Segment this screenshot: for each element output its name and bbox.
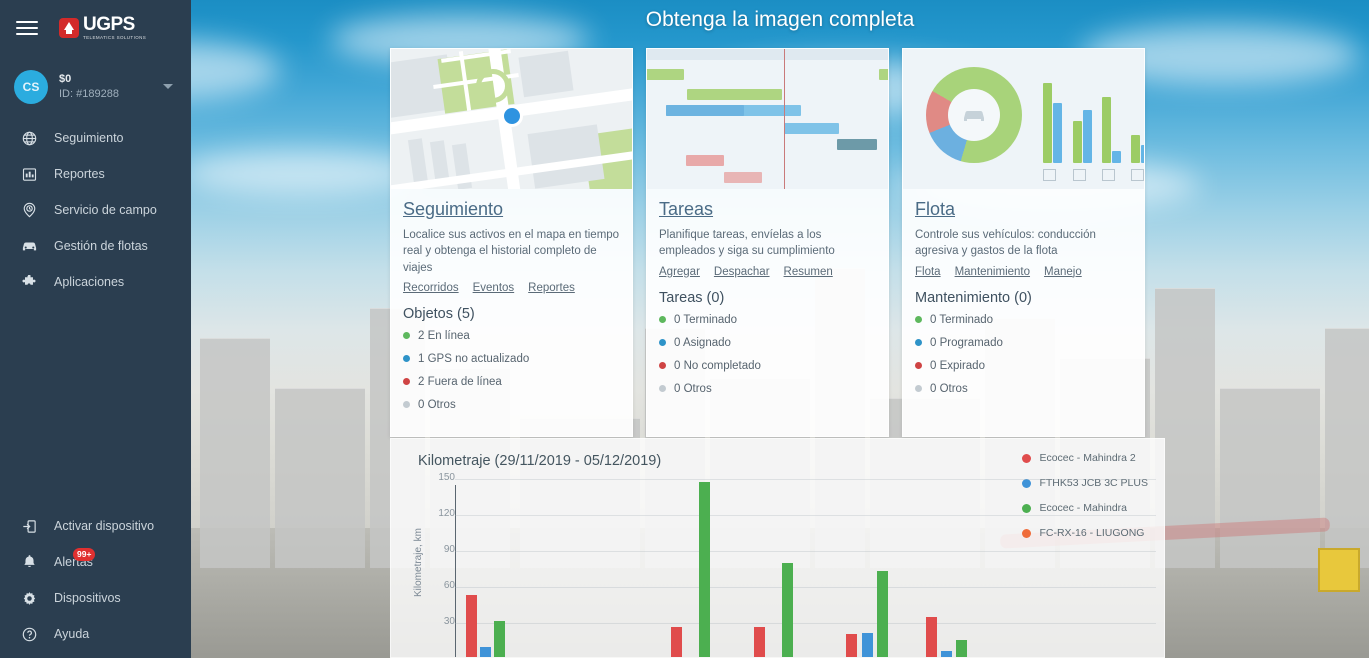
app-logo[interactable]: UGPS TELEMATICS SOLUTIONS — [59, 15, 146, 41]
card-links: Recorridos Eventos Reportes — [403, 282, 620, 294]
donut-chart-icon — [926, 67, 1022, 163]
card-stats: 0 Terminado 0 Asignado 0 No completado 0… — [659, 314, 876, 395]
y-tick-label: 30 — [411, 616, 455, 627]
card-link-3[interactable]: Manejo — [1044, 266, 1082, 278]
avatar: CS — [14, 70, 48, 104]
card-stat-row: 0 Otros — [659, 383, 876, 395]
card-flota[interactable]: Flota Controle sus vehículos: conducción… — [902, 48, 1145, 437]
sidebar-item-aplicaciones[interactable]: Aplicaciones — [0, 264, 191, 300]
hamburger-menu-icon[interactable] — [16, 17, 38, 39]
sidebar-item-dispositivos[interactable]: Dispositivos — [0, 580, 191, 616]
card-title[interactable]: Flota — [915, 199, 955, 220]
sidebar-item-gesti-n-de-flotas[interactable]: Gestión de flotas — [0, 228, 191, 264]
card-link-1[interactable]: Flota — [915, 266, 941, 278]
status-dot — [915, 385, 922, 392]
y-tick-label: 90 — [411, 544, 455, 555]
card-stat-label: 0 No completado — [674, 360, 761, 372]
chart-bar[interactable] — [494, 621, 505, 657]
chart-bar[interactable] — [782, 563, 793, 657]
card-stat-label: 2 En línea — [418, 330, 470, 342]
sidebar-nav-bottom: Activar dispositivo Alertas 99+ Disposit… — [0, 508, 191, 652]
sidebar-item-servicio-de-campo[interactable]: Servicio de campo — [0, 192, 191, 228]
card-stat-row: 0 No completado — [659, 360, 876, 372]
chart-bar[interactable] — [699, 482, 710, 657]
card-stat-row: 2 Fuera de línea — [403, 376, 620, 388]
status-dot — [403, 378, 410, 385]
sidebar: UGPS TELEMATICS SOLUTIONS CS $0 ID: #189… — [0, 0, 191, 658]
card-subtitle: Mantenimiento (0) — [915, 290, 1132, 306]
car-icon — [18, 240, 40, 253]
card-stat-label: 0 Expirado — [930, 360, 985, 372]
chart-bar[interactable] — [941, 651, 952, 657]
card-link-1[interactable]: Recorridos — [403, 282, 459, 294]
status-dot — [403, 332, 410, 339]
clock-pin-icon — [18, 202, 40, 218]
chart-bar[interactable] — [671, 627, 682, 657]
card-stat-label: 0 Programado — [930, 337, 1003, 349]
card-tareas[interactable]: Tareas Planifique tareas, envíelas a los… — [646, 48, 889, 437]
card-stat-label: 1 GPS no actualizado — [418, 353, 529, 365]
card-thumbnail-gantt — [647, 49, 888, 189]
card-stat-label: 0 Otros — [418, 399, 456, 411]
card-links: Flota Mantenimiento Manejo — [915, 266, 1132, 278]
chart-bar[interactable] — [877, 571, 888, 657]
globe-icon — [18, 131, 40, 146]
account-id: ID: #189288 — [59, 87, 119, 102]
card-subtitle: Tareas (0) — [659, 290, 876, 306]
card-stat-row: 0 Programado — [915, 337, 1132, 349]
car-icon — [961, 107, 987, 123]
sidebar-item-seguimiento[interactable]: Seguimiento — [0, 120, 191, 156]
sidebar-item-label: Dispositivos — [54, 591, 121, 605]
chart-title: Kilometraje (29/11/2019 - 05/12/2019) — [418, 453, 661, 469]
sidebar-item-label: Servicio de campo — [54, 203, 157, 217]
card-title[interactable]: Tareas — [659, 199, 713, 220]
sidebar-item-label: Ayuda — [54, 627, 89, 641]
card-stats: 0 Terminado 0 Programado 0 Expirado 0 Ot… — [915, 314, 1132, 395]
legend-item[interactable]: Ecocec - Mahindra 2 — [1022, 452, 1148, 464]
card-stat-label: 2 Fuera de línea — [418, 376, 502, 388]
card-stat-label: 0 Terminado — [674, 314, 737, 326]
chart-plot-area: Kilometraje, km 306090120150 — [391, 479, 1164, 657]
activate-icon — [18, 519, 40, 534]
chart-bar[interactable] — [754, 627, 765, 657]
dashboard-cards: Seguimiento Localice sus activos en el m… — [390, 48, 1145, 437]
sidebar-item-reportes[interactable]: Reportes — [0, 156, 191, 192]
chart-bar[interactable] — [862, 633, 873, 657]
card-stat-label: 0 Asignado — [674, 337, 731, 349]
card-seguimiento[interactable]: Seguimiento Localice sus activos en el m… — [390, 48, 633, 437]
y-tick-label: 150 — [411, 472, 455, 483]
sidebar-item-label: Activar dispositivo — [54, 519, 154, 533]
gear-icon — [18, 591, 40, 606]
status-dot — [403, 355, 410, 362]
sidebar-item-alertas[interactable]: Alertas 99+ — [0, 544, 191, 580]
card-description: Controle sus vehículos: conducción agres… — [915, 227, 1132, 260]
account-balance: $0 — [59, 72, 119, 87]
grid-line — [455, 479, 1156, 480]
bar-chart-icon — [18, 167, 40, 182]
card-stat-row: 2 En línea — [403, 330, 620, 342]
card-thumbnail-fleet — [903, 49, 1144, 189]
sidebar-item-label: Reportes — [54, 167, 105, 181]
logo-name: UGPS — [83, 15, 146, 34]
map-marker-icon — [501, 105, 523, 127]
puzzle-icon — [18, 275, 40, 290]
chart-bar[interactable] — [466, 595, 477, 657]
y-tick-label: 60 — [411, 580, 455, 591]
sidebar-item-label: Seguimiento — [54, 131, 124, 145]
card-stat-row: 0 Otros — [915, 383, 1132, 395]
status-dot — [659, 362, 666, 369]
card-stat-row: 0 Otros — [403, 399, 620, 411]
sidebar-item-label: Aplicaciones — [54, 275, 124, 289]
bell-icon — [18, 554, 40, 570]
mileage-chart-panel: Kilometraje (29/11/2019 - 05/12/2019) Ec… — [390, 438, 1165, 658]
card-link-2[interactable]: Despachar — [714, 266, 770, 278]
legend-color-swatch — [1022, 454, 1031, 463]
chart-bar[interactable] — [956, 640, 967, 657]
sidebar-item-ayuda[interactable]: Ayuda — [0, 616, 191, 652]
card-links: Agregar Despachar Resumen — [659, 266, 876, 278]
chart-bar[interactable] — [926, 617, 937, 657]
card-stats: 2 En línea 1 GPS no actualizado 2 Fuera … — [403, 330, 620, 411]
chart-bar[interactable] — [846, 634, 857, 657]
status-dot — [915, 362, 922, 369]
card-stat-row: 1 GPS no actualizado — [403, 353, 620, 365]
card-link-3[interactable]: Resumen — [784, 266, 833, 278]
card-stat-row: 0 Expirado — [915, 360, 1132, 372]
card-stat-label: 0 Otros — [674, 383, 712, 395]
card-description: Planifique tareas, envíelas a los emplea… — [659, 227, 876, 260]
card-thumbnail-map — [391, 49, 632, 189]
status-dot — [659, 385, 666, 392]
card-description: Localice sus activos en el mapa en tiemp… — [403, 227, 620, 276]
card-link-3[interactable]: Reportes — [528, 282, 575, 294]
card-link-2[interactable]: Mantenimiento — [955, 266, 1030, 278]
help-icon — [18, 627, 40, 642]
card-link-2[interactable]: Eventos — [473, 282, 515, 294]
chart-bar[interactable] — [480, 647, 491, 657]
chevron-down-icon[interactable] — [163, 84, 173, 89]
card-stat-label: 0 Otros — [930, 383, 968, 395]
alert-badge: 99+ — [73, 548, 95, 561]
card-title[interactable]: Seguimiento — [403, 199, 503, 220]
card-link-1[interactable]: Agregar — [659, 266, 700, 278]
card-subtitle: Objetos (5) — [403, 306, 620, 322]
legend-label: Ecocec - Mahindra 2 — [1039, 452, 1135, 464]
card-stat-row: 0 Terminado — [915, 314, 1132, 326]
status-dot — [659, 316, 666, 323]
page-title: Obtenga la imagen completa — [191, 8, 1369, 32]
sidebar-header: UGPS TELEMATICS SOLUTIONS — [0, 0, 191, 56]
card-stat-label: 0 Terminado — [930, 314, 993, 326]
account-summary[interactable]: CS $0 ID: #189288 — [0, 56, 191, 120]
sidebar-nav-main: Seguimiento Reportes Servicio de campo G… — [0, 120, 191, 300]
logo-tagline: TELEMATICS SOLUTIONS — [83, 36, 146, 41]
status-dot — [403, 401, 410, 408]
y-tick-label: 120 — [411, 508, 455, 519]
status-dot — [915, 316, 922, 323]
card-stat-row: 0 Asignado — [659, 337, 876, 349]
chart-bars — [456, 485, 1156, 657]
status-dot — [915, 339, 922, 346]
sidebar-item-activar-dispositivo[interactable]: Activar dispositivo — [0, 508, 191, 544]
status-dot — [659, 339, 666, 346]
card-stat-row: 0 Terminado — [659, 314, 876, 326]
sidebar-item-label: Gestión de flotas — [54, 239, 148, 253]
logo-mark-icon — [59, 18, 79, 38]
